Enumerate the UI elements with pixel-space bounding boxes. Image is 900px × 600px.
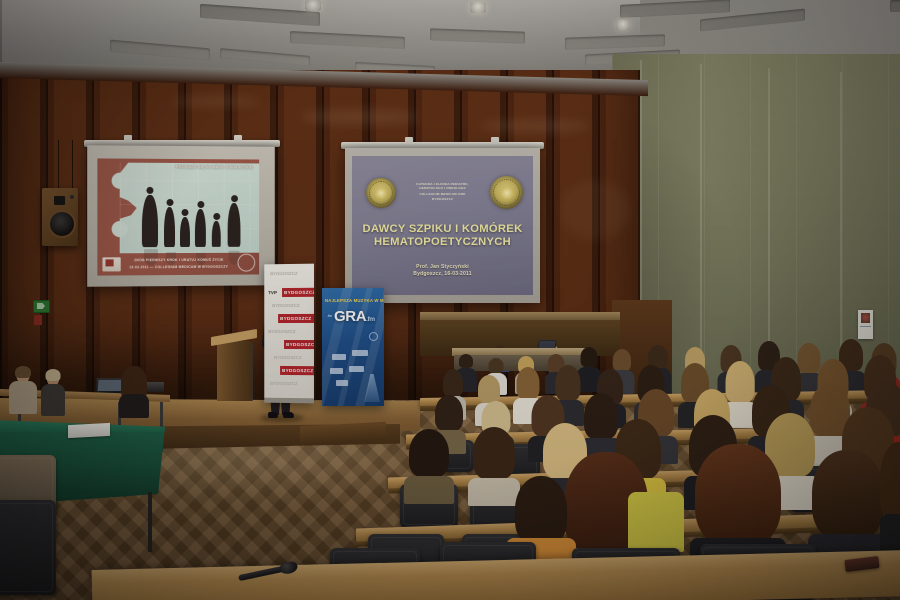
banner-ghost-text: BYDGOSZCZ xyxy=(272,302,299,310)
person-hair xyxy=(515,476,567,546)
slide-title-line-2: HEMATOPOETYCZNYCH xyxy=(352,235,533,249)
silhouette-figure xyxy=(195,209,206,247)
woofer-icon xyxy=(48,210,76,238)
wall-loudspeaker xyxy=(42,188,78,246)
right-projection-screen: KATEDRA I KLINIKA PEDIATRII, HEMATOLOGII… xyxy=(345,148,540,303)
left-slide-footer-2: 16.03.2011 — COLLEGIUM MEDICUM W BYDGOSZ… xyxy=(97,265,259,270)
presenter-shoe xyxy=(268,412,278,418)
ceiling-slab xyxy=(890,0,900,12)
left-slide: PRZYŁĄCZ SIĘ DO WALKI Z BIAŁACZKĄ! ZRÓB … xyxy=(97,158,259,275)
audience-person xyxy=(40,372,66,416)
person-hair xyxy=(443,369,463,397)
silhouette-figure xyxy=(180,217,190,247)
slide-org-line-3: COLLEGIUM MEDICUM UMK xyxy=(419,192,465,196)
lectern-body xyxy=(217,341,251,401)
person-body xyxy=(9,381,37,414)
radio-gra-rollup: NAJLEPSZA MUZYKA W MIEŚCIE .fm GRA.fm xyxy=(322,288,384,406)
left-slide-headline: PRZYŁĄCZ SIĘ DO WALKI Z BIAŁACZKĄ! xyxy=(176,165,253,169)
poster-text-line xyxy=(860,326,871,327)
speaker-cable xyxy=(72,140,73,190)
university-seal-right-icon xyxy=(490,176,523,209)
logo-mark-icon xyxy=(106,259,114,266)
person-body xyxy=(628,492,684,552)
lecture-hall-photo: PRZYŁĄCZ SIĘ DO WALKI Z BIAŁACZKĄ! ZRÓB … xyxy=(0,0,900,600)
banner-base xyxy=(264,398,314,404)
banner-chip xyxy=(330,368,343,374)
wall-poster xyxy=(858,310,873,339)
person-hair xyxy=(517,367,540,399)
speaker-cable xyxy=(58,140,59,190)
wall-reflection xyxy=(300,110,420,124)
person-hair xyxy=(15,366,31,378)
university-seal-left-icon xyxy=(366,178,396,208)
slide-place-date: Bydgoszcz, 16-03-2011 xyxy=(352,271,533,278)
person-hair xyxy=(581,347,598,367)
left-slide-seal-icon xyxy=(238,254,256,272)
audience-person xyxy=(8,368,38,414)
ceiling-light xyxy=(616,20,630,30)
wall-reflection xyxy=(170,96,260,106)
slide-title-line-1: DAWCY SZPIKU I KOMÓREK xyxy=(352,222,533,236)
person-body xyxy=(41,384,65,416)
person-hair xyxy=(613,349,631,371)
tvp-city-label: BYDGOSZCZ xyxy=(280,366,314,375)
person-hair xyxy=(695,444,781,548)
person-hair xyxy=(880,442,900,522)
person-hair xyxy=(435,395,463,431)
silhouette-figure xyxy=(164,207,175,247)
name-card xyxy=(68,423,110,438)
person-hair xyxy=(478,375,500,403)
person-hair xyxy=(409,429,449,477)
table-leg xyxy=(148,492,152,552)
banner-ghost-text: BYDGOSZCZ xyxy=(268,328,295,336)
tweeter-icon xyxy=(54,196,65,205)
person-body xyxy=(119,394,149,418)
person-hair xyxy=(46,369,61,381)
banner-chip xyxy=(349,366,364,372)
roller-bracket xyxy=(405,137,413,143)
wall-reflection xyxy=(560,180,630,240)
banner-ghost-text: BYDGOSZCZ xyxy=(274,354,301,362)
slide-org-line-4: BYDGOSZCZ xyxy=(432,197,453,201)
person-hair xyxy=(473,427,515,479)
fire-equipment-box xyxy=(34,315,42,325)
person-body xyxy=(404,476,454,504)
ceiling-light xyxy=(305,0,321,11)
speaker-port-icon xyxy=(70,195,74,199)
audience-person xyxy=(628,456,684,552)
banner-chip xyxy=(332,354,346,360)
roller-bracket xyxy=(124,135,132,141)
person-hair xyxy=(459,354,473,368)
roller-bracket xyxy=(491,137,499,143)
seal-center-icon xyxy=(375,187,387,199)
slide-author: Prof. Jan Styczyński xyxy=(352,264,533,271)
tvp-bydgoszcz-rollup: BYDGOSZCZ TVP BYDGOSZCZ BYDGOSZCZ BYDGOS… xyxy=(264,264,314,404)
chair-back xyxy=(0,500,56,595)
wall-reflection xyxy=(480,120,590,132)
audience-person xyxy=(118,368,150,418)
poster-image xyxy=(861,313,870,323)
banner-chip xyxy=(336,380,348,386)
tvp-city-label: BYDGOSZCZ xyxy=(284,340,314,349)
exit-sign xyxy=(33,300,50,313)
lectern xyxy=(215,333,253,405)
tvp-city-label: BYDGOSZCZ xyxy=(278,314,313,323)
gra-logo-text: GRA xyxy=(334,308,366,325)
person-hair xyxy=(556,365,581,401)
banner-ghost-text: BYDGOSZCZ xyxy=(270,270,297,278)
banner-light-beam xyxy=(322,288,353,406)
silhouette-figure xyxy=(142,195,158,247)
person-hair xyxy=(812,450,884,542)
person-body xyxy=(880,514,900,552)
tvp-brand-label: TVP xyxy=(268,288,277,297)
right-slide: KATEDRA I KLINIKA PEDIATRII, HEMATOLOGII… xyxy=(352,156,533,295)
presenter-shadow xyxy=(260,414,304,422)
audience-person xyxy=(880,442,900,552)
silhouette-figure xyxy=(228,203,241,247)
left-slide-logo xyxy=(102,257,120,271)
presenter-shoe xyxy=(283,412,294,418)
left-projection-screen: PRZYŁĄCZ SIĘ DO WALKI Z BIAŁACZKĄ! ZRÓB … xyxy=(87,145,275,287)
gra-logo: GRA.fm xyxy=(334,308,375,325)
gra-logo-suffix: .fm xyxy=(366,316,375,323)
banner-ghost-text: BYDGOSZCZ xyxy=(270,380,297,388)
seal-center-icon xyxy=(500,186,513,199)
gra-www-label: .fm xyxy=(327,314,332,318)
person-hair xyxy=(489,358,504,373)
roller-bracket xyxy=(234,135,242,141)
slide-org-line-2: HEMATOLOGII I ONKOLOGII xyxy=(419,186,465,190)
gra-tagline: NAJLEPSZA MUZYKA W MIEŚCIE xyxy=(325,298,384,303)
banner-chip xyxy=(352,350,368,356)
audience-person xyxy=(404,432,454,504)
tvp-city-label: BYDGOSZCZ xyxy=(282,288,314,297)
silhouette-figure xyxy=(212,221,221,247)
ceiling-light xyxy=(470,2,486,13)
gra-badge-icon xyxy=(369,332,378,341)
